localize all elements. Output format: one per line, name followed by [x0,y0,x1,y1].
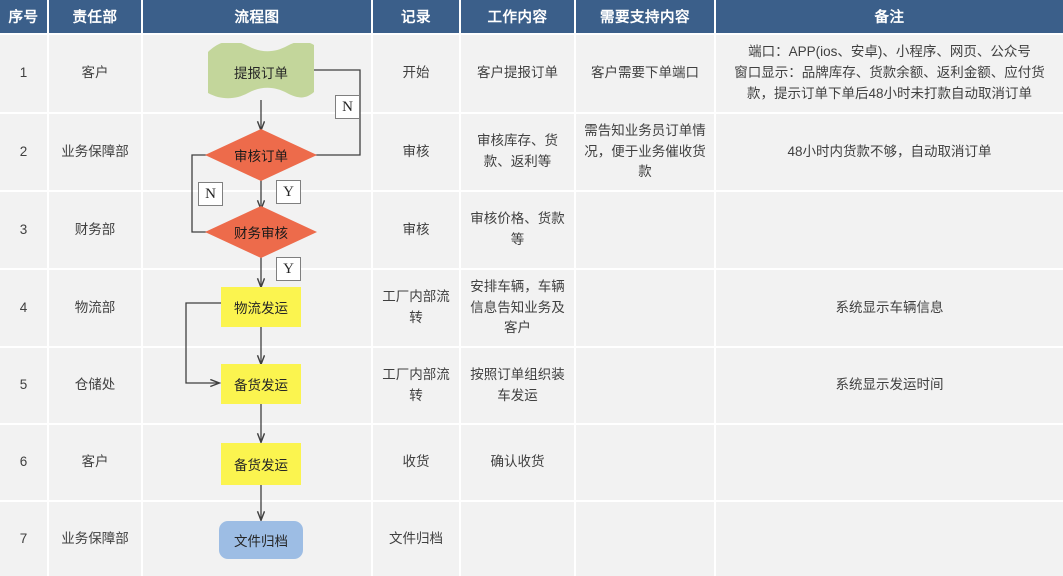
decision-label-text: Y [283,184,294,201]
cell-support [575,424,715,501]
column-header-flow[interactable]: 流程图 [142,0,372,34]
flow-node-review-order[interactable]: 审核订单 [205,129,317,181]
cell-support: 客户需要下单端口 [575,34,715,113]
column-header-work[interactable]: 工作内容 [460,0,575,34]
decision-label-n-review-order[interactable]: N [335,95,360,119]
decision-label-text: N [205,186,216,203]
cell-remark: 端口：APP(ios、安卓)、小程序、网页、公众号窗口显示：品牌库存、货款余额、… [715,34,1063,113]
flow-node-label: 财务审核 [234,222,288,242]
flowchart-table-page: 序号 责任部 流程图 记录 工作内容 需要支持内容 备注 1 客户 开始 客户提… [0,0,1063,576]
flow-node-label: 备货发运 [234,454,288,474]
cell-seq: 6 [0,424,48,501]
decision-label-y-review-order[interactable]: Y [276,180,301,204]
decision-label-n-finance-review[interactable]: N [198,182,223,206]
cell-work: 审核库存、货款、返利等 [460,113,575,191]
cell-dept: 物流部 [48,269,142,347]
cell-dept: 业务保障部 [48,501,142,576]
flow-node-prepare-ship-6[interactable]: 备货发运 [221,443,301,485]
cell-seq: 5 [0,347,48,424]
column-header-support[interactable]: 需要支持内容 [575,0,715,34]
table-row: 5 仓储处 工厂内部流转 按照订单组织装车发运 系统显示发运时间 [0,347,1063,424]
cell-work: 按照订单组织装车发运 [460,347,575,424]
table-row: 6 客户 收货 确认收货 [0,424,1063,501]
flow-node-label: 备货发运 [234,374,288,394]
table-row: 1 客户 开始 客户提报订单 客户需要下单端口 端口：APP(ios、安卓)、小… [0,34,1063,113]
cell-remark [715,424,1063,501]
flow-node-submit-order[interactable]: 提报订单 [208,43,314,100]
cell-record: 工厂内部流转 [372,347,460,424]
flow-node-finance-review[interactable]: 财务审核 [205,206,317,258]
cell-work: 审核价格、货款等 [460,191,575,269]
flow-node-label: 物流发运 [234,297,288,317]
table-row: 4 物流部 工厂内部流转 安排车辆，车辆信息告知业务及客户 系统显示车辆信息 [0,269,1063,347]
decision-label-y-finance-review[interactable]: Y [276,257,301,281]
cell-support: 需告知业务员订单情况，便于业务催收货款 [575,113,715,191]
flow-node-label: 文件归档 [234,530,288,550]
column-header-dept[interactable]: 责任部 [48,0,142,34]
cell-remark [715,191,1063,269]
table-row: 2 业务保障部 审核 审核库存、货款、返利等 需告知业务员订单情况，便于业务催收… [0,113,1063,191]
cell-work [460,501,575,576]
column-header-record[interactable]: 记录 [372,0,460,34]
cell-seq: 1 [0,34,48,113]
table-row: 7 业务保障部 文件归档 [0,501,1063,576]
cell-dept: 客户 [48,34,142,113]
cell-seq: 2 [0,113,48,191]
cell-seq: 4 [0,269,48,347]
column-header-remark[interactable]: 备注 [715,0,1063,34]
cell-work: 确认收货 [460,424,575,501]
cell-support [575,191,715,269]
cell-dept: 客户 [48,424,142,501]
cell-work: 安排车辆，车辆信息告知业务及客户 [460,269,575,347]
cell-seq: 7 [0,501,48,576]
cell-dept: 财务部 [48,191,142,269]
process-table: 序号 责任部 流程图 记录 工作内容 需要支持内容 备注 1 客户 开始 客户提… [0,0,1063,576]
cell-record: 工厂内部流转 [372,269,460,347]
flow-node-logistics-shipping[interactable]: 物流发运 [221,287,301,327]
decision-label-text: N [342,99,353,116]
flow-node-prepare-ship-5[interactable]: 备货发运 [221,364,301,404]
cell-dept: 业务保障部 [48,113,142,191]
cell-remark: 系统显示车辆信息 [715,269,1063,347]
cell-record: 收货 [372,424,460,501]
table-header-row: 序号 责任部 流程图 记录 工作内容 需要支持内容 备注 [0,0,1063,34]
cell-work: 客户提报订单 [460,34,575,113]
flow-node-file-archive[interactable]: 文件归档 [219,521,303,559]
cell-record: 审核 [372,113,460,191]
cell-remark [715,501,1063,576]
decision-label-text: Y [283,261,294,278]
cell-remark: 48小时内货款不够，自动取消订单 [715,113,1063,191]
cell-seq: 3 [0,191,48,269]
cell-record: 开始 [372,34,460,113]
flow-node-label: 审核订单 [234,145,288,165]
table-row: 3 财务部 审核 审核价格、货款等 [0,191,1063,269]
cell-support [575,347,715,424]
cell-support [575,269,715,347]
cell-remark: 系统显示发运时间 [715,347,1063,424]
cell-record: 审核 [372,191,460,269]
cell-record: 文件归档 [372,501,460,576]
column-header-seq[interactable]: 序号 [0,0,48,34]
flow-node-label: 提报订单 [234,62,288,82]
cell-dept: 仓储处 [48,347,142,424]
cell-support [575,501,715,576]
